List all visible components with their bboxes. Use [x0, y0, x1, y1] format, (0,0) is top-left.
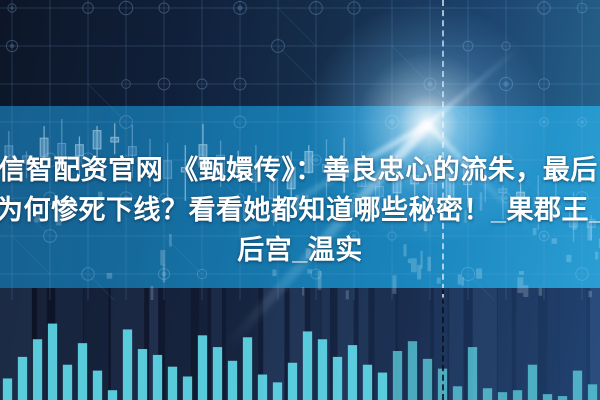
volume-bar-chart [0, 288, 600, 400]
caption-line-3: 后宫_温实 [0, 230, 600, 270]
caption-text: 信智配资官网 《甄嬛传》：善良忠心的流朱，最后 为何惨死下线？看看她都知道哪些秘… [0, 150, 600, 270]
caption-line-1: 信智配资官网 《甄嬛传》：善良忠心的流朱，最后 [0, 150, 600, 190]
caption-line-2: 为何惨死下线？看看她都知道哪些秘密！_果郡王_后宫_温 [0, 190, 600, 230]
promo-banner: 信智配资官网 《甄嬛传》：善良忠心的流朱，最后 为何惨死下线？看看她都知道哪些秘… [0, 0, 600, 400]
crosshair-dashed-line-lower [442, 288, 444, 400]
